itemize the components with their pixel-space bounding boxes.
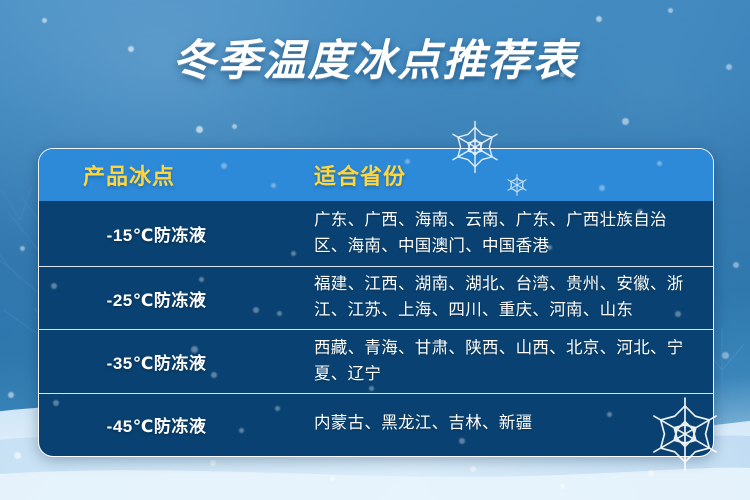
table-row[interactable]: -25℃防冻液 福建、江西、湖南、湖北、台湾、贵州、安徽、浙江、江苏、上海、四川…: [39, 266, 713, 329]
table-row[interactable]: -45℃防冻液 内蒙古、黑龙江、吉林、新疆: [39, 393, 713, 454]
cell-product-freezing-point: -15℃防冻液: [39, 221, 296, 246]
cell-product-freezing-point: -45℃防冻液: [39, 412, 296, 437]
cell-suitable-provinces: 内蒙古、黑龙江、吉林、新疆: [296, 411, 713, 437]
cell-suitable-provinces: 福建、江西、湖南、湖北、台湾、贵州、安徽、浙江、江苏、上海、四川、重庆、河南、山…: [296, 272, 713, 323]
cell-suitable-provinces: 西藏、青海、甘肃、陕西、山西、北京、河北、宁夏、辽宁: [296, 336, 713, 387]
cell-suitable-provinces: 广东、广西、海南、云南、广东、广西壮族自治区、海南、中国澳门、中国香港: [296, 208, 713, 259]
table-row[interactable]: -15℃防冻液 广东、广西、海南、云南、广东、广西壮族自治区、海南、中国澳门、中…: [39, 201, 713, 266]
column-header-provinces: 适合省份: [296, 159, 713, 191]
table-row[interactable]: -35℃防冻液 西藏、青海、甘肃、陕西、山西、北京、河北、宁夏、辽宁: [39, 329, 713, 393]
table-body: -15℃防冻液 广东、广西、海南、云南、广东、广西壮族自治区、海南、中国澳门、中…: [39, 201, 713, 456]
table-header-row: 产品冰点 适合省份: [39, 149, 713, 201]
recommendation-table: 产品冰点 适合省份 -15℃防冻液 广东、广西、海南、云南、广东、广西壮族自治区…: [38, 148, 714, 457]
page-title: 冬季温度冰点推荐表: [0, 40, 750, 83]
column-header-product: 产品冰点: [39, 159, 296, 191]
cell-product-freezing-point: -25℃防冻液: [39, 286, 296, 311]
cell-product-freezing-point: -35℃防冻液: [39, 349, 296, 374]
winter-antifreeze-poster: 冬季温度冰点推荐表 产品冰点 适合省份 -15℃防冻液 广东、广西、海南、云南、…: [0, 0, 750, 500]
